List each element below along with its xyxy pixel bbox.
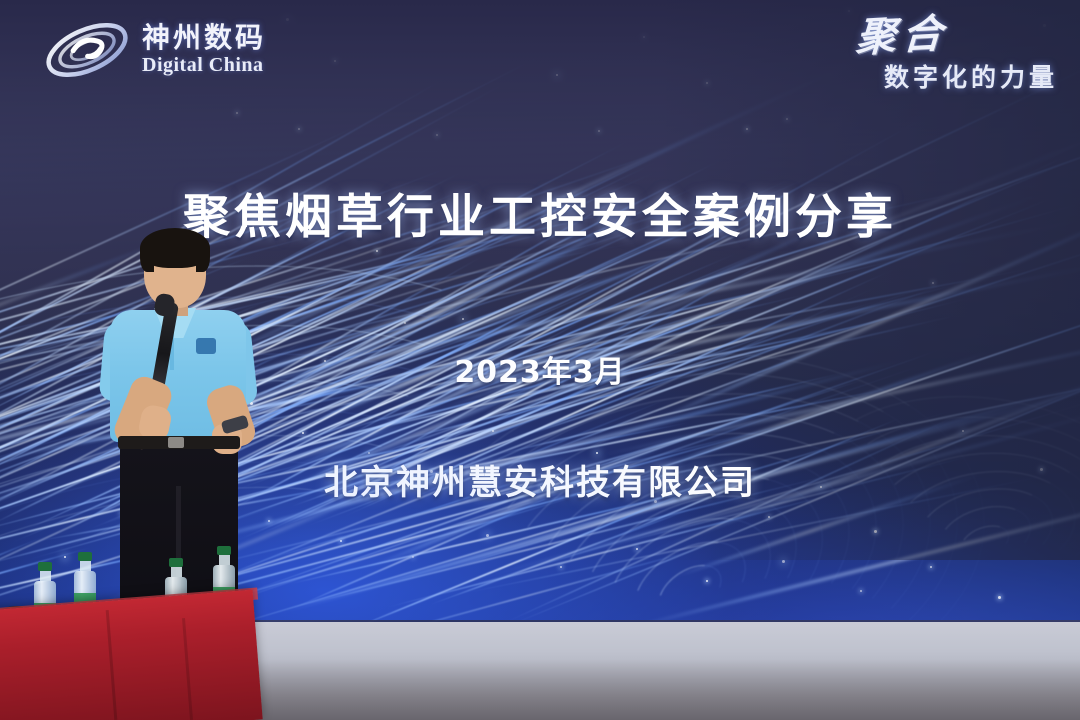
event-theme-logo: 聚合 数字化的力量	[856, 18, 1058, 94]
brand-name-en: Digital China	[142, 54, 266, 77]
speaker-person	[96, 228, 286, 622]
bottle-neck	[80, 561, 91, 571]
bottle-cap	[217, 546, 231, 555]
bottle-neck	[171, 567, 182, 577]
bottle-cap	[78, 552, 92, 561]
calligraphy-juhe: 聚合	[855, 16, 949, 57]
bottle-neck	[40, 571, 51, 581]
bottle-neck	[219, 555, 230, 565]
brand-name-cn: 神州数码	[142, 23, 266, 52]
event-tagline: 数字化的力量	[856, 58, 1058, 94]
speaker-chest-logo	[196, 338, 216, 354]
speaker-hair-left	[140, 242, 154, 272]
digital-china-logo: 神州数码 Digital China	[44, 18, 266, 82]
conference-photo: 神州数码 Digital China 聚合 数字化的力量 聚焦烟草行业工控安全案…	[0, 0, 1080, 720]
bottle-cap	[169, 558, 183, 567]
speaker-belt-buckle	[168, 437, 184, 448]
bottle-cap	[38, 562, 52, 571]
speaker-hair-right	[196, 242, 210, 272]
digital-china-swirl-icon	[44, 18, 130, 82]
red-tablecloth	[0, 590, 263, 720]
